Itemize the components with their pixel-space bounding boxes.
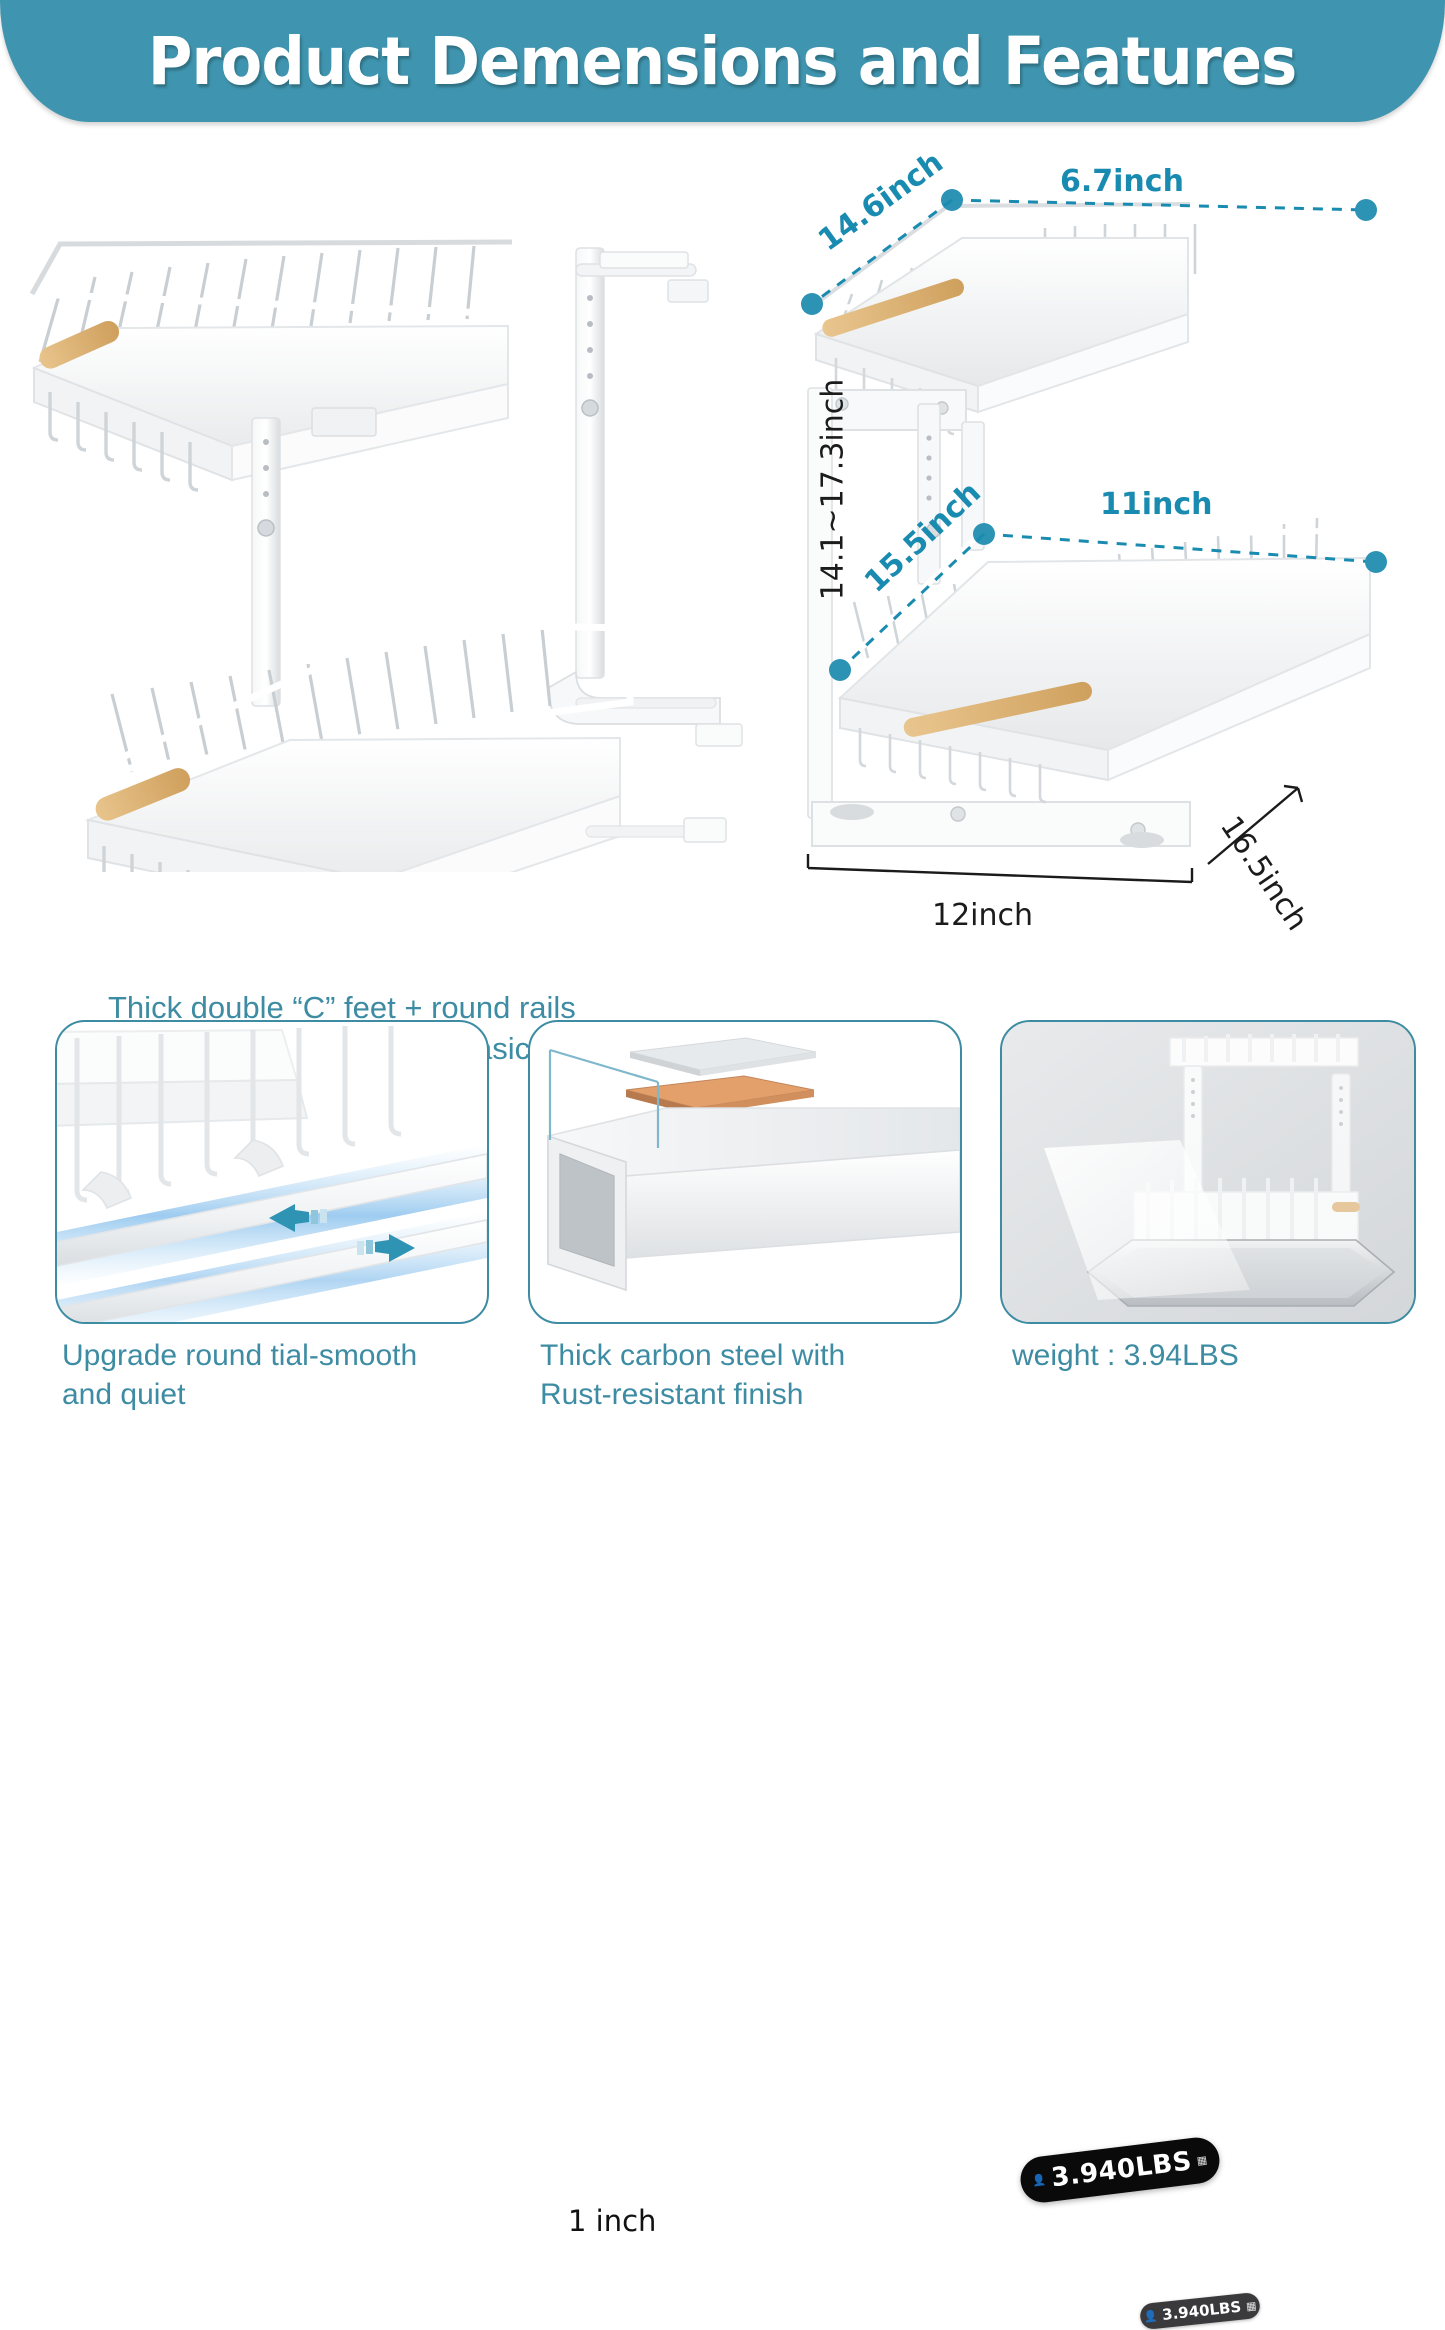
panel-weight [1000, 1020, 1416, 1324]
scale-readout-magnified: 👤 3.940LBS ▦ [1018, 2135, 1222, 2205]
panel-round-rail [55, 1020, 489, 1324]
scale-readout-big-value: 3.940LBS [1050, 2146, 1194, 2193]
dim-label-bottom-width: 11inch [1100, 487, 1213, 522]
lower-basket [86, 624, 726, 872]
panel-2-caption-line2: Rust-resistant finish [540, 1375, 980, 1414]
user-icon-small: 👤 [1138, 2309, 1163, 2322]
scale-readout-small-value: 3.940LBS [1161, 2298, 1242, 2324]
dim-label-height: 14.1~17.3inch [815, 379, 850, 601]
panel-1-caption-line1: Upgrade round tial-smooth [62, 1336, 492, 1375]
rail-illustration [57, 1022, 487, 1322]
feature-panels: Upgrade round tial-smooth and quiet [0, 1020, 1445, 1425]
panel-carbon-steel [528, 1020, 962, 1324]
panel-3-caption: weight : 3.94LBS [1012, 1336, 1432, 1375]
panel-2-caption: Thick carbon steel with Rust-resistant f… [540, 1336, 980, 1414]
support-frame [252, 248, 742, 746]
tare-icon-small: ▦ [1240, 2299, 1261, 2312]
scale-readout-device: 👤 3.940LBS ▦ [1139, 2292, 1261, 2330]
steel-tube [548, 1108, 960, 1290]
diagram-upper-basket [810, 204, 1195, 434]
user-icon: 👤 [1027, 2173, 1052, 2187]
panel-3-caption-line1: weight : 3.94LBS [1012, 1336, 1432, 1375]
dimension-diagram: 6.7inch 14.6inch 14.1~17.3inch 15.5inch … [790, 182, 1430, 982]
top-section: Thick double “C” feet + round rails - ma… [0, 122, 1445, 1012]
page-title: Product Demensions and Features [148, 23, 1296, 100]
product-rack-illustration [20, 232, 780, 872]
product-photo-left [20, 232, 780, 872]
tare-icon: ▦ [1191, 2153, 1213, 2166]
dim-label-top-width: 6.7inch [1060, 164, 1184, 199]
panel-1-caption: Upgrade round tial-smooth and quiet [62, 1336, 492, 1414]
dim-label-base-width: 12inch [932, 898, 1033, 933]
header-banner: Product Demensions and Features [0, 0, 1445, 122]
steel-tube-illustration [530, 1022, 960, 1322]
weight-scale-illustration [1002, 1022, 1414, 1322]
tube-thickness-label: 1 inch [568, 2204, 656, 2238]
panel-2-caption-line1: Thick carbon steel with [540, 1336, 980, 1375]
panel-1-caption-line2: and quiet [62, 1375, 492, 1414]
